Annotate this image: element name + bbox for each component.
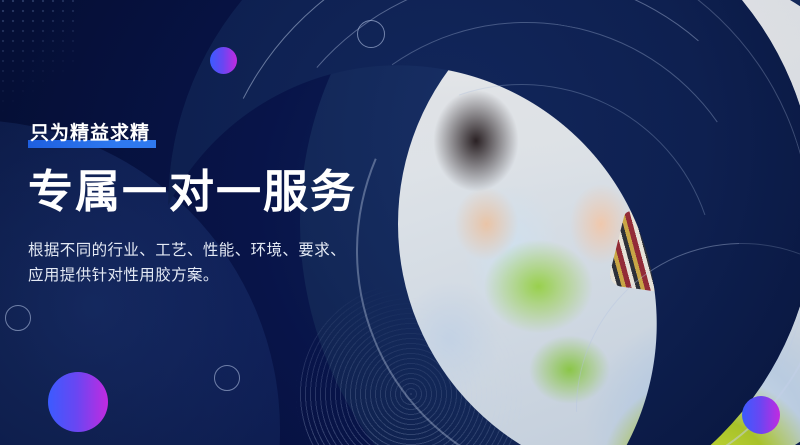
dot-grid-top-left-icon bbox=[0, 0, 82, 116]
banner-eyebrow: 只为精益求精 bbox=[28, 124, 152, 148]
decorative-ring-1 bbox=[5, 305, 31, 331]
promo-banner: 努力就是 不努力就是淡季 只为精益求精 专属一对一服务 根据不同的行业、工艺、性… bbox=[0, 0, 800, 445]
banner-copy-block: 只为精益求精 专属一对一服务 根据不同的行业、工艺、性能、环境、要求、 应用提供… bbox=[28, 124, 378, 288]
banner-headline: 专属一对一服务 bbox=[28, 168, 378, 216]
gradient-dot-bottom-right bbox=[742, 396, 780, 434]
decorative-ring-3 bbox=[357, 20, 385, 48]
banner-eyebrow-label: 只为精益求精 bbox=[30, 123, 150, 144]
banner-description: 根据不同的行业、工艺、性能、环境、要求、 应用提供针对性用胶方案。 bbox=[28, 238, 376, 288]
banner-description-line-2: 应用提供针对性用胶方案。 bbox=[28, 263, 376, 288]
banner-description-line-1: 根据不同的行业、工艺、性能、环境、要求、 bbox=[28, 242, 346, 259]
gradient-dot-top-left bbox=[210, 47, 237, 74]
gradient-dot-bottom-left bbox=[48, 372, 108, 432]
decorative-ring-2 bbox=[214, 365, 240, 391]
